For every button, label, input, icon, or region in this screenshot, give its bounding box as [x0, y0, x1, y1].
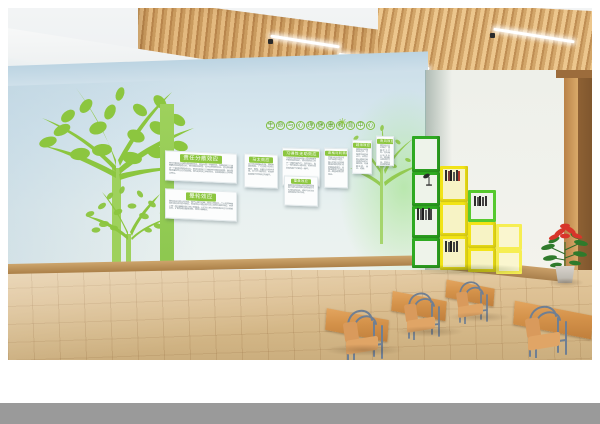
books-group	[474, 196, 487, 206]
sparkle-icon: ✳	[338, 116, 347, 129]
wall-panel: 南风效应 南风效应告诉我们：温暖胜于严寒。在处理人际关系时，要特别注意讲究方法，…	[376, 136, 394, 166]
footer-bar: 德天人禾文旅 ® DETIAN RENHE CULTURAL TOURISM 常…	[0, 360, 600, 404]
student-chair	[520, 292, 578, 358]
room-render-photo: 生 命 与 心 理 健 康 教 育 中 心 ✳ 责任分散效应 责任分散效应也称为…	[8, 8, 592, 360]
led-end-cap	[490, 33, 495, 38]
wall-title-char: 健	[316, 121, 325, 130]
furniture-shadow	[448, 312, 510, 322]
bookshelf-cube	[468, 190, 496, 222]
bookshelf-shadow	[410, 264, 530, 276]
panel-body: 南风效应告诉我们：温暖胜于严寒。在处理人际关系时，要特别注意讲究方法，宽容比惩戒…	[380, 145, 390, 166]
wall-panel: 超限效应 超限效应是指刺激过多、过强或作用时间过久，从而引起心理极不耐烦或逆反的…	[352, 140, 372, 174]
panel-heading: 马太效应	[249, 157, 273, 164]
panel-heading: 习得性无助效应	[283, 150, 320, 157]
panel-body: 皮格马利翁效应也叫罗森塔尔效应，指人们基于对某种情境的知觉而形成的期望或预言，会…	[328, 157, 344, 177]
books-group	[445, 170, 460, 181]
wall-panel: 霍桑效应 霍桑效应是指当被观察者知道自己成为被观察对象而改变行为倾向的反应。倾听…	[284, 175, 318, 206]
wall-panel: 马太效应 马太效应指强者愈强、弱者愈弱的现象，广泛应用于社会心理学、教育、金融以…	[244, 153, 278, 188]
plant-shadow	[548, 278, 584, 287]
books-group	[417, 208, 432, 220]
bookshelf-cube	[440, 202, 468, 236]
wall-title-char: 中	[356, 121, 365, 130]
furniture-shadow	[394, 326, 464, 337]
bookshelf-cube	[496, 224, 522, 250]
panel-heading: 皮格马利翁效应	[325, 151, 348, 157]
presentation-sheet: 生 命 与 心 理 健 康 教 育 中 心 ✳ 责任分散效应 责任分散效应也称为…	[0, 0, 600, 424]
furniture-shadow	[324, 344, 404, 356]
wall-title-char: 理	[306, 121, 315, 130]
panel-heading: 南风效应	[377, 139, 394, 144]
wall-title-char: 生	[266, 121, 275, 130]
panel-heading: 超限效应	[353, 143, 372, 148]
desk-lamp-decor	[422, 172, 436, 186]
panel-body: 责任分散效应也称为旁观者效应，是指对某一件事来说，如果是单个个体被要求单独完成任…	[169, 163, 233, 178]
page-bottom-strip	[0, 403, 600, 424]
panel-body: 习得性无助效应是指人或动物接连不断地受到挫折，便会感到自己对于一切都无能为力，丧…	[286, 158, 316, 171]
wall-panel: 皮格马利翁效应 皮格马利翁效应也叫罗森塔尔效应，指人们基于对某种情境的知觉而形成…	[324, 148, 348, 189]
wall-panel: 晕轮效应 晕轮效应又称光环效应，属于心理学范畴，指当认知者对一个人的某种特征形成…	[165, 188, 237, 221]
panel-heading: 霍桑效应	[291, 179, 311, 185]
wall-title-char: 心	[366, 121, 375, 130]
bookshelf-cube	[412, 136, 440, 172]
panel-body: 超限效应是指刺激过多、过强或作用时间过久，从而引起心理极不耐烦或逆反的心理现象。…	[356, 149, 368, 171]
wall-panel: 责任分散效应 责任分散效应也称为旁观者效应，是指对某一件事来说，如果是单个个体被…	[165, 150, 237, 183]
wall-title-characters: 生 命 与 心 理 健 康 教 育 中 心	[266, 121, 375, 130]
panel-body: 晕轮效应又称光环效应，属于心理学范畴，指当认知者对一个人的某种特征形成好或坏的印…	[169, 201, 233, 214]
door-frame-header	[556, 70, 592, 78]
wall-title-char: 育	[346, 121, 355, 130]
wall-title-char: 康	[326, 121, 335, 130]
wall-title-char: 心	[296, 121, 305, 130]
panel-body: 霍桑效应是指当被观察者知道自己成为被观察对象而改变行为倾向的反应。倾听与关注本身…	[288, 185, 314, 195]
wall-title-char: 命	[276, 121, 285, 130]
wall-title-char: 与	[286, 121, 295, 130]
panel-body: 马太效应指强者愈强、弱者愈弱的现象，广泛应用于社会心理学、教育、金融以及科学领域…	[248, 164, 274, 177]
panel-heading: 晕轮效应	[186, 192, 216, 201]
led-end-cap	[268, 39, 273, 44]
bookshelf-cube	[468, 222, 496, 248]
potted-plant	[536, 220, 592, 270]
books-group	[445, 241, 458, 252]
